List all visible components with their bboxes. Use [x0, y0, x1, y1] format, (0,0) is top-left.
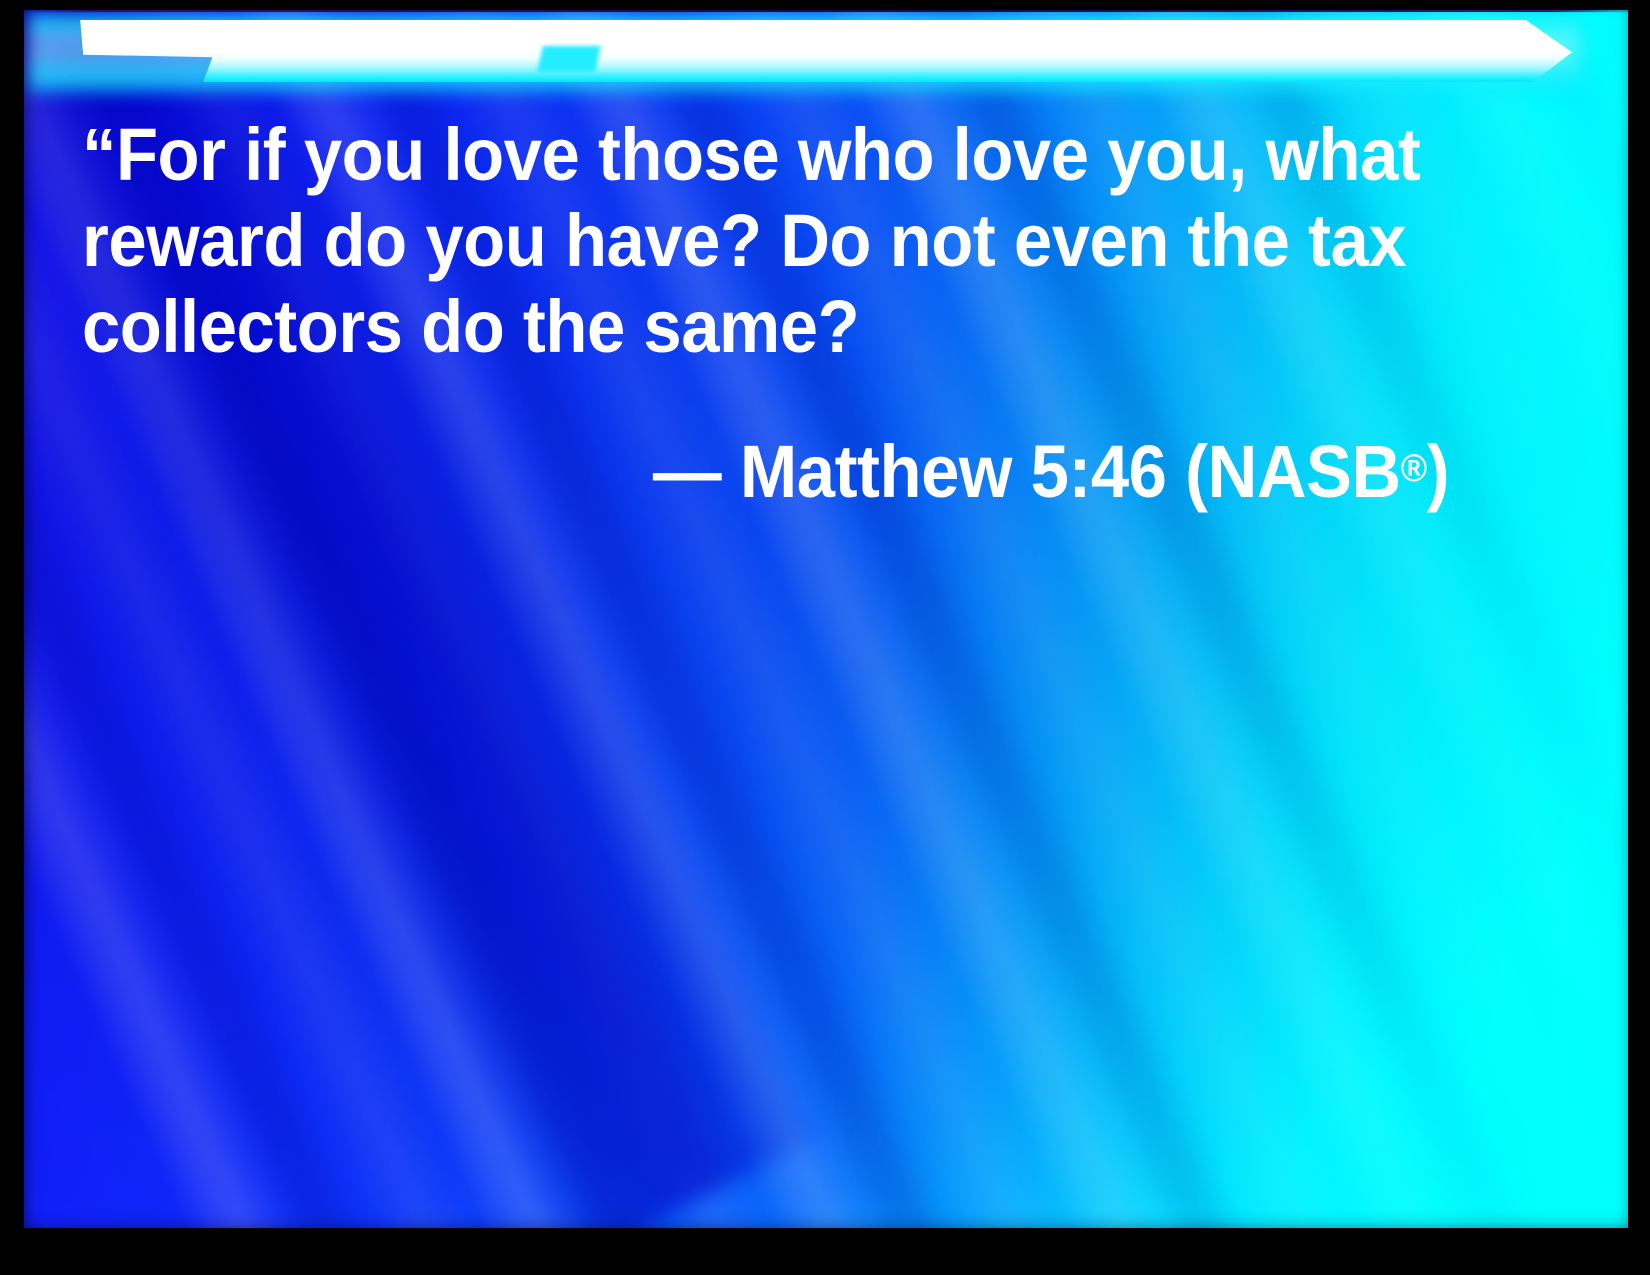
attribution-prefix: — Matthew 5:46 (NASB: [653, 430, 1401, 513]
attribution-suffix: ): [1427, 430, 1449, 513]
verse-slide: “For if you love those who love you, wha…: [0, 0, 1650, 1275]
verse-line-1: “For if you love those who love you, wha…: [82, 112, 1449, 198]
registered-trademark-icon: ®: [1401, 447, 1427, 490]
frame-right: [1628, 0, 1650, 1275]
verse-attribution: — Matthew 5:46 (NASB®): [82, 426, 1449, 515]
verse-text-block: “For if you love those who love you, wha…: [82, 112, 1449, 515]
frame-top: [0, 0, 1650, 10]
verse-line-2: reward do you have? Do not even the tax: [82, 198, 1449, 284]
frame-bottom: [0, 1228, 1650, 1275]
frame-left: [0, 0, 24, 1275]
verse-line-3: collectors do the same?: [82, 284, 1449, 370]
header-band: [34, 20, 1572, 82]
